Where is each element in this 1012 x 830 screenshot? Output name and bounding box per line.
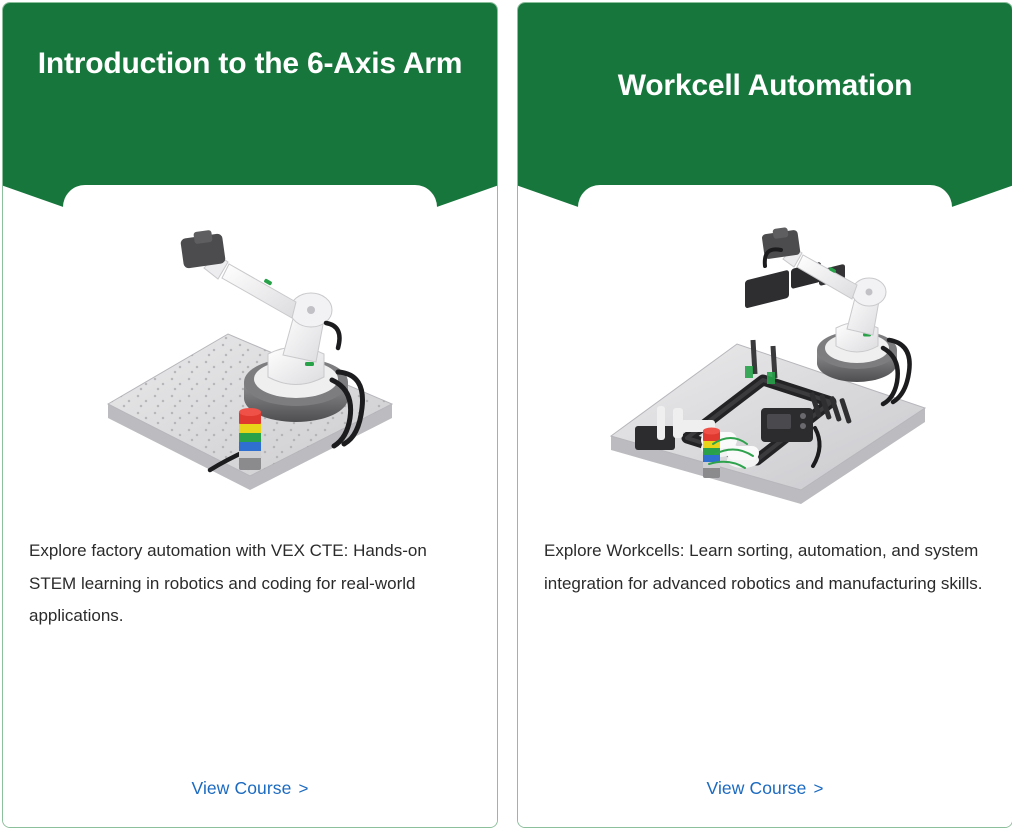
six-axis-robot-arm-on-baseplate-image [100,222,400,512]
course-card-intro-6-axis-arm[interactable]: Introduction to the 6-Axis Arm [2,2,498,828]
header-image-tab [578,185,952,221]
card-title: Introduction to the 6-Axis Arm [3,3,497,84]
view-course-link[interactable]: View Course> [191,778,308,799]
course-card-grid: Introduction to the 6-Axis Arm [0,0,1012,830]
card-footer: View Course> [3,778,497,827]
chevron-right-icon: > [813,779,823,799]
card-image-container [3,221,497,513]
view-course-label: View Course [706,778,806,798]
card-body: Explore Workcells: Learn sorting, automa… [518,221,1012,827]
card-body: Explore factory automation with VEX CTE:… [3,221,497,827]
card-title: Workcell Automation [518,3,1012,106]
card-description: Explore factory automation with VEX CTE:… [3,513,497,633]
card-footer: View Course> [518,778,1012,827]
course-card-workcell-automation[interactable]: Workcell Automation [517,2,1012,828]
view-course-link[interactable]: View Course> [706,778,823,799]
card-header-banner: Workcell Automation [518,3,1012,221]
card-header-banner: Introduction to the 6-Axis Arm [3,3,497,221]
card-image-container [518,221,1012,513]
workcell-automation-cell-image [595,222,935,512]
header-image-tab [63,185,437,221]
chevron-right-icon: > [298,779,308,799]
view-course-label: View Course [191,778,291,798]
card-description: Explore Workcells: Learn sorting, automa… [518,513,1012,600]
